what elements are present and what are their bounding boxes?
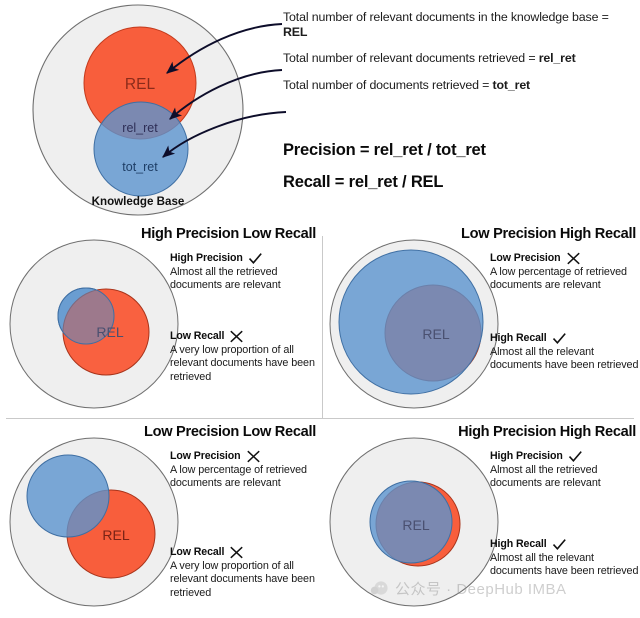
venn-high-precision-high-recall: REL xyxy=(326,432,502,612)
formula-list: Precision = rel_ret / tot_ret Recall = r… xyxy=(283,140,633,204)
rel-ret-label: rel_ret xyxy=(122,121,158,135)
note-heading-text: High Recall xyxy=(490,332,547,345)
cross-icon xyxy=(566,252,581,265)
note-body: Almost all the retrieved documents are r… xyxy=(490,464,640,491)
note-heading: Low Precision xyxy=(170,450,322,463)
note-body: Almost all the relevant documents have b… xyxy=(490,346,640,373)
venn-low-precision-low-recall: REL xyxy=(6,432,182,612)
venn-high-precision-low-recall: REL xyxy=(6,234,182,414)
infographic-root: REL rel_ret tot_ret Knowledge Base Total… xyxy=(0,0,640,618)
note-low-recall: Low Recall A very low proportion of all … xyxy=(170,546,322,600)
callout-rel-ret-text: Total number of relevant documents retri… xyxy=(283,51,539,65)
check-icon xyxy=(248,252,263,265)
callout-list: Total number of relevant documents in th… xyxy=(283,10,633,104)
tot-ret-circle xyxy=(339,250,483,394)
note-heading-text: Low Precision xyxy=(170,450,241,463)
tot-ret-circle xyxy=(94,102,188,196)
quadrant-low-precision-low-recall: Low Precision Low Recall REL Low Precisi… xyxy=(0,420,320,616)
rel-label: REL xyxy=(422,326,449,342)
note-body: A low percentage of retrieved documents … xyxy=(490,266,640,293)
quadrant-high-precision-high-recall: High Precision High Recall REL High Prec… xyxy=(320,420,640,616)
note-high-precision: High Precision Almost all the retrieved … xyxy=(490,450,640,491)
note-body: Almost all the retrieved documents are r… xyxy=(170,266,322,293)
note-heading: High Precision xyxy=(490,450,640,463)
horizontal-divider xyxy=(6,418,634,419)
note-body: Almost all the relevant documents have b… xyxy=(490,552,640,579)
knowledge-base-label: Knowledge Base xyxy=(92,195,185,208)
quadrant-low-precision-high-recall: Low Precision High Recall REL Low Precis… xyxy=(320,222,640,418)
rel-label: REL xyxy=(125,76,156,93)
quadrant-grid: High Precision Low Recall REL High Preci… xyxy=(0,220,640,618)
cross-icon xyxy=(229,330,244,343)
note-body: A low percentage of retrieved documents … xyxy=(170,464,322,491)
tot-ret-circle xyxy=(27,455,109,537)
callout-rel-term: REL xyxy=(283,25,307,39)
callout-rel: Total number of relevant documents in th… xyxy=(283,10,633,40)
note-heading: High Precision xyxy=(170,252,322,265)
check-icon xyxy=(568,450,583,463)
note-heading-text: Low Recall xyxy=(170,546,224,559)
note-heading-text: Low Precision xyxy=(490,252,561,265)
recall-formula: Recall = rel_ret / REL xyxy=(283,172,633,192)
venn-low-precision-high-recall: REL xyxy=(326,234,502,414)
cross-icon xyxy=(229,546,244,559)
quadrant-high-precision-low-recall: High Precision Low Recall REL High Preci… xyxy=(0,222,320,418)
precision-formula: Precision = rel_ret / tot_ret xyxy=(283,140,633,160)
callout-tot-ret: Total number of documents retrieved = to… xyxy=(283,78,633,93)
note-body: A very low proportion of all relevant do… xyxy=(170,344,322,384)
rel-label: REL xyxy=(96,324,123,340)
callout-tot-ret-text: Total number of documents retrieved = xyxy=(283,78,493,92)
note-low-precision: Low Precision A low percentage of retrie… xyxy=(170,450,322,491)
note-low-recall: Low Recall A very low proportion of all … xyxy=(170,330,322,384)
callout-rel-ret-term: rel_ret xyxy=(539,51,576,65)
cross-icon xyxy=(246,450,261,463)
note-high-recall: High Recall Almost all the relevant docu… xyxy=(490,332,640,373)
callout-rel-text: Total number of relevant documents in th… xyxy=(283,10,609,24)
note-heading: Low Precision xyxy=(490,252,640,265)
note-high-precision: High Precision Almost all the retrieved … xyxy=(170,252,322,293)
note-heading: High Recall xyxy=(490,332,640,345)
callout-rel-ret: Total number of relevant documents retri… xyxy=(283,51,633,66)
check-icon xyxy=(552,538,567,551)
note-heading: High Recall xyxy=(490,538,640,551)
top-definition-panel: REL rel_ret tot_ret Knowledge Base Total… xyxy=(0,0,640,218)
top-venn-diagram: REL rel_ret tot_ret Knowledge Base xyxy=(22,2,272,218)
check-icon xyxy=(552,332,567,345)
note-high-recall: High Recall Almost all the relevant docu… xyxy=(490,538,640,579)
note-heading: Low Recall xyxy=(170,330,322,343)
note-heading-text: Low Recall xyxy=(170,330,224,343)
note-low-precision: Low Precision A low percentage of retrie… xyxy=(490,252,640,293)
note-heading-text: High Precision xyxy=(490,450,563,463)
note-heading-text: High Precision xyxy=(170,252,243,265)
note-heading-text: High Recall xyxy=(490,538,547,551)
note-body: A very low proportion of all relevant do… xyxy=(170,560,322,600)
note-heading: Low Recall xyxy=(170,546,322,559)
callout-tot-ret-term: tot_ret xyxy=(493,78,531,92)
rel-label: REL xyxy=(402,517,429,533)
rel-label: REL xyxy=(102,527,129,543)
tot-ret-label: tot_ret xyxy=(122,160,158,174)
